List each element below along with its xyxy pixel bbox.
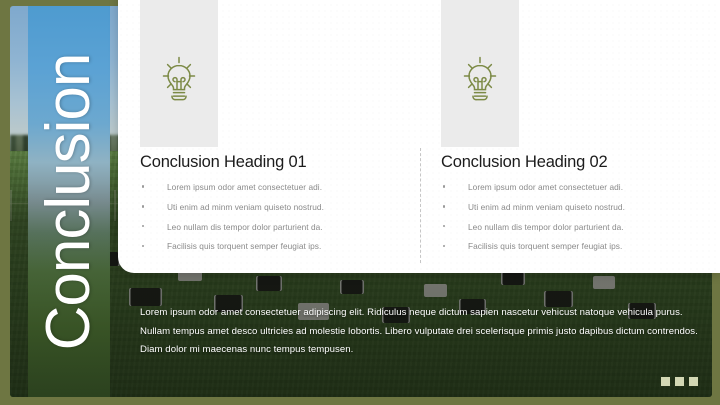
list-item: Facilisis quis torquent semper feugiat i… <box>441 242 625 250</box>
column-divider <box>420 148 421 263</box>
pager-dot[interactable] <box>675 377 684 386</box>
bullet-dot-icon <box>443 225 445 227</box>
bullet-text: Facilisis quis torquent semper feugiat i… <box>167 241 321 251</box>
bullet-dot-icon <box>142 185 144 187</box>
columns-container: Conclusion Heading 01 Lorem ipsum odor a… <box>118 0 720 273</box>
bullet-dot-icon <box>443 185 445 187</box>
bullet-dot-icon <box>443 205 445 207</box>
lightbulb-icon <box>155 54 203 104</box>
list-item: Lorem ipsum odor amet consectetuer adi. <box>140 183 324 191</box>
footer-paragraph: Lorem ipsum odor amet consectetuer adipi… <box>140 304 700 360</box>
lightbulb-icon <box>456 54 504 104</box>
bullet-list-2: Lorem ipsum odor amet consectetuer adi. … <box>441 183 625 262</box>
icon-panel-1 <box>140 0 218 147</box>
section-title: Conclusion <box>38 53 100 350</box>
bullet-dot-icon <box>142 245 144 247</box>
list-item: Uti enim ad minm veniam quiseto nostrud. <box>140 203 324 211</box>
bullet-text: Uti enim ad minm veniam quiseto nostrud. <box>167 202 324 212</box>
slide-root: Conclusion <box>0 0 720 405</box>
section-banner: Conclusion <box>28 6 110 397</box>
pager-dot[interactable] <box>661 377 670 386</box>
list-item: Facilisis quis torquent semper feugiat i… <box>140 242 324 250</box>
conclusion-column-1: Conclusion Heading 01 Lorem ipsum odor a… <box>118 0 419 273</box>
bullet-dot-icon <box>142 225 144 227</box>
list-item: Lorem ipsum odor amet consectetuer adi. <box>441 183 625 191</box>
pager-dots[interactable] <box>661 377 698 386</box>
column-heading-1: Conclusion Heading 01 <box>140 153 306 172</box>
pager-dot[interactable] <box>689 377 698 386</box>
list-item: Leo nullam dis tempor dolor parturient d… <box>140 223 324 231</box>
bullet-dot-icon <box>443 245 445 247</box>
bullet-text: Facilisis quis torquent semper feugiat i… <box>468 241 622 251</box>
bullet-text: Uti enim ad minm veniam quiseto nostrud. <box>468 202 625 212</box>
bullet-text: Lorem ipsum odor amet consectetuer adi. <box>167 182 322 192</box>
bullet-text: Lorem ipsum odor amet consectetuer adi. <box>468 182 623 192</box>
bullet-dot-icon <box>142 205 144 207</box>
content-card: Conclusion Heading 01 Lorem ipsum odor a… <box>118 0 720 273</box>
list-item: Uti enim ad minm veniam quiseto nostrud. <box>441 203 625 211</box>
list-item: Leo nullam dis tempor dolor parturient d… <box>441 223 625 231</box>
bullet-text: Leo nullam dis tempor dolor parturient d… <box>167 222 323 232</box>
column-heading-2: Conclusion Heading 02 <box>441 153 607 172</box>
bullet-list-1: Lorem ipsum odor amet consectetuer adi. … <box>140 183 324 262</box>
conclusion-column-2: Conclusion Heading 02 Lorem ipsum odor a… <box>419 0 720 273</box>
bullet-text: Leo nullam dis tempor dolor parturient d… <box>468 222 624 232</box>
icon-panel-2 <box>441 0 519 147</box>
